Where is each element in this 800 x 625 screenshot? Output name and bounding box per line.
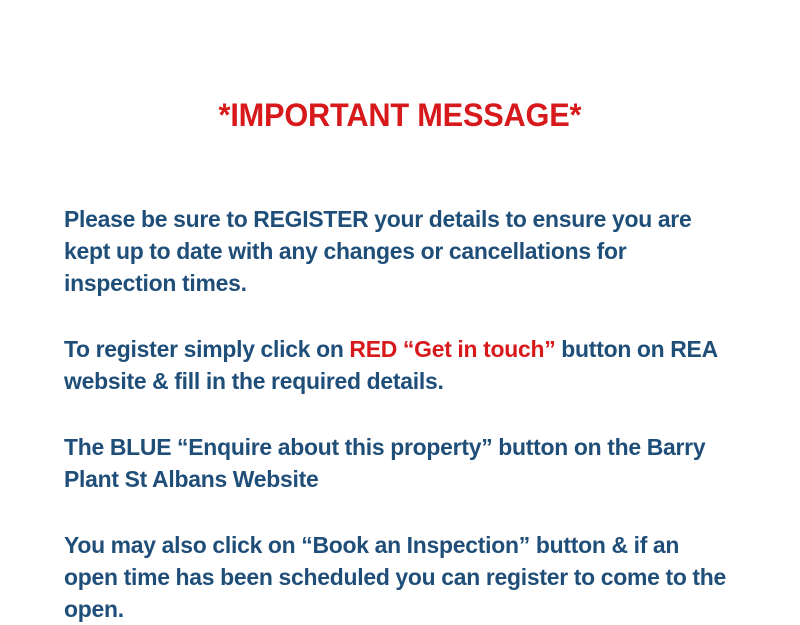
- paragraph-book-an-inspection: You may also click on “Book an Inspectio…: [64, 529, 727, 625]
- paragraph-blue-enquire-button: The BLUE “Enquire about this property” b…: [64, 431, 727, 495]
- page-title: *IMPORTANT MESSAGE*: [219, 98, 582, 133]
- paragraph-rea-text-before: To register simply click on: [64, 336, 349, 362]
- accent-red-get-in-touch: RED “Get in touch”: [349, 336, 555, 362]
- title-block: *IMPORTANT MESSAGE*: [0, 98, 800, 133]
- body-content: Please be sure to REGISTER your details …: [64, 203, 744, 625]
- paragraph-register-details: Please be sure to REGISTER your details …: [64, 203, 727, 299]
- slide-canvas: *IMPORTANT MESSAGE* Please be sure to RE…: [0, 0, 800, 600]
- paragraph-rea-get-in-touch: To register simply click on RED “Get in …: [64, 333, 727, 397]
